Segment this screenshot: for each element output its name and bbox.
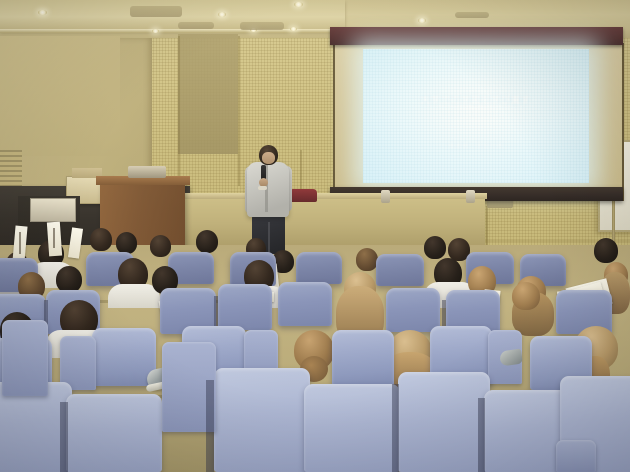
slide-subtitle: ― 学習の基礎を考える ―	[363, 109, 589, 118]
presenter-torso	[247, 162, 289, 217]
student-head	[196, 230, 218, 253]
wall-seam	[238, 36, 240, 186]
printer	[30, 198, 76, 222]
seat-gap	[392, 384, 399, 472]
lecture-seat	[218, 284, 272, 330]
lecture-seat	[304, 384, 400, 472]
lecture-seat	[296, 252, 342, 284]
lecture-seat	[214, 368, 310, 472]
slide-title: 大学での学習を学び直す	[363, 93, 589, 106]
red-bag	[289, 189, 317, 202]
ceiling-vent-icon	[240, 22, 284, 30]
student-head	[116, 232, 137, 254]
ceiling-vent-icon	[455, 12, 489, 18]
student-shoulders	[108, 284, 160, 308]
wall-seam	[178, 36, 180, 176]
ceiling-light-icon	[294, 2, 303, 7]
student-head	[90, 228, 112, 251]
lecture-seat	[66, 394, 162, 472]
student-head	[56, 266, 82, 293]
ceiling-light-icon	[218, 12, 226, 17]
wall-dark-column	[178, 34, 238, 154]
handout-text-line	[53, 228, 55, 248]
lecture-seat	[332, 330, 394, 386]
ceiling-vent-icon	[130, 6, 182, 17]
seat-gap	[60, 402, 68, 472]
counter-item	[381, 190, 390, 203]
student-head	[424, 236, 446, 259]
lecture-seat	[278, 282, 332, 326]
projection-screen-surface: 大学での学習を学び直す ― 学習の基礎を考える ― 発表者：学生代表	[363, 49, 589, 183]
lecture-hall-photo: 大学での学習を学び直す ― 学習の基礎を考える ― 発表者：学生代表	[0, 0, 630, 472]
handout-text-line	[19, 232, 21, 254]
ceiling-edge-trim	[0, 29, 350, 33]
student-head	[356, 248, 378, 271]
student-head	[150, 235, 171, 257]
projection-screen: 大学での学習を学び直す ― 学習の基礎を考える ― 発表者：学生代表	[330, 27, 623, 205]
seat-gap	[478, 398, 485, 472]
presenter-leg-split	[268, 222, 270, 254]
ceiling-light-icon	[38, 10, 47, 15]
left-wall-upper	[0, 36, 120, 156]
presenter-face	[262, 152, 275, 164]
seat-armrest	[2, 320, 48, 396]
seat-gap	[206, 380, 214, 472]
seat-armrest	[556, 440, 596, 472]
front-counter-top	[183, 193, 487, 199]
lecture-seat	[376, 254, 424, 286]
ceiling-vent-icon	[178, 22, 214, 29]
lecture-seat	[398, 372, 490, 472]
wristwatch-icon	[258, 186, 267, 190]
lectern-equipment	[128, 166, 166, 178]
lecture-seat	[386, 288, 440, 332]
ceiling-light-icon	[152, 29, 159, 33]
student-head	[512, 282, 540, 310]
ceiling-light-icon	[290, 27, 297, 31]
counter-item	[466, 190, 475, 203]
slide-footer: 発表者：学生代表	[363, 141, 589, 150]
projection-screen-valance	[330, 27, 623, 45]
student-head	[594, 238, 618, 263]
ceiling-light-icon	[418, 18, 426, 23]
